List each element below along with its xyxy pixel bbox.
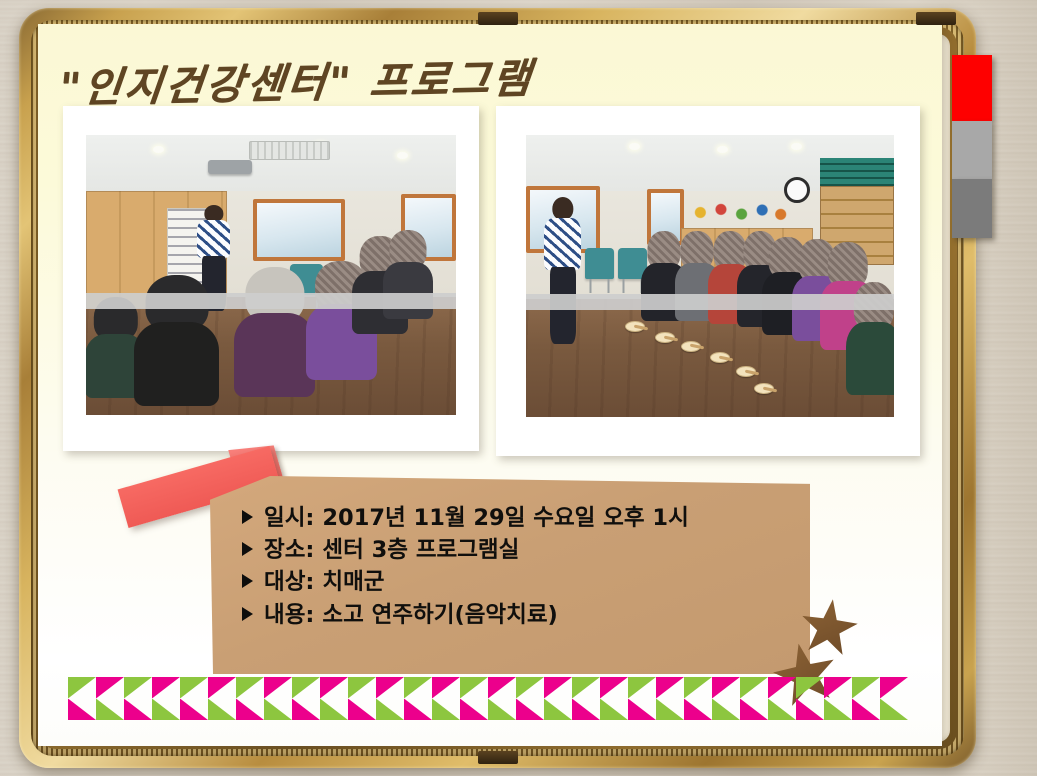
triangle-pair [544,677,572,720]
triangle-pair [712,677,740,720]
triangle-icon [768,699,796,721]
triangle-pair [208,677,236,720]
info-label: 내용: [264,599,314,631]
triangle-icon [628,677,656,699]
block-red[interactable] [952,55,992,121]
triangle-icon [404,677,432,699]
list-item: 장소: 센터 3층 프로그램실 [242,534,689,566]
triangle-pair [124,677,152,720]
triangle-icon [180,677,208,699]
triangle-pair [152,677,180,720]
frame-clip-top-right [916,12,956,25]
triangle-pair [768,677,796,720]
triangle-icon [68,677,96,699]
triangle-icon [376,677,404,699]
triangle-icon [348,677,376,699]
triangle-icon [208,699,236,721]
triangle-icon [768,677,796,699]
triangle-pair [404,677,432,720]
info-value: 소고 연주하기(음악치료) [322,599,557,631]
triangle-pair [516,677,544,720]
triangle-icon [572,677,600,699]
triangle-pair [628,677,656,720]
triangle-pair [376,677,404,720]
list-item: 내용: 소고 연주하기(음악치료) [242,599,689,631]
triangle-pair [236,677,264,720]
triangle-icon [572,699,600,721]
screen-share-band-right [526,294,894,310]
triangle-icon [600,699,628,721]
triangle-icon [796,677,824,699]
triangle-icon [880,677,908,699]
triangle-pair [684,677,712,720]
triangle-icon [320,699,348,721]
triangle-icon [488,677,516,699]
triangle-icon [544,677,572,699]
photo-image-left [86,135,456,415]
triangle-icon [544,699,572,721]
triangle-icon [852,699,880,721]
info-list: 일시: 2017년 11월 29일 수요일 오후 1시 장소: 센터 3층 프로… [242,502,689,631]
triangle-icon [852,677,880,699]
list-item: 일시: 2017년 11월 29일 수요일 오후 1시 [242,502,689,534]
bullet-triangle-icon [242,574,253,588]
triangle-icon [740,677,768,699]
triangle-icon [656,699,684,721]
slide-canvas: "인지건강센터" 프로그램 [38,24,942,746]
triangle-pair [740,677,768,720]
info-label: 대상: [264,566,314,598]
page-title: "인지건강센터" 프로그램 [56,44,536,114]
triangle-icon [516,699,544,721]
photo-card-right [496,106,920,456]
triangle-icon [824,677,852,699]
triangle-icon [656,677,684,699]
triangle-pair [880,677,908,720]
triangle-icon [180,699,208,721]
bullet-triangle-icon [242,542,253,556]
triangle-pair [600,677,628,720]
photo-image-right [526,135,894,417]
info-box: 일시: 2017년 11월 29일 수요일 오후 1시 장소: 센터 3층 프로… [210,476,810,674]
info-value: 2017년 11월 29일 수요일 오후 1시 [322,502,688,534]
triangle-icon [236,677,264,699]
info-label: 장소: [264,534,314,566]
triangle-pair [320,677,348,720]
triangle-icon [376,699,404,721]
triangle-icon [740,699,768,721]
triangle-pair [68,677,96,720]
triangle-pair [656,677,684,720]
triangle-icon [292,699,320,721]
triangle-pair [852,677,880,720]
triangle-icon [880,699,908,721]
screen-share-band-left [86,293,456,308]
triangle-border-decoration [68,677,908,720]
triangle-pair [488,677,516,720]
triangle-icon [96,677,124,699]
triangle-pair [432,677,460,720]
block-light-gray[interactable] [952,121,992,179]
triangle-icon [488,699,516,721]
triangle-icon [712,677,740,699]
triangle-icon [796,699,824,721]
triangle-icon [320,677,348,699]
triangle-pair [348,677,376,720]
triangle-pair [96,677,124,720]
frame-clip-bottom [478,751,518,764]
bullet-triangle-icon [242,510,253,524]
triangle-icon [208,677,236,699]
desk-background: "인지건강센터" 프로그램 [0,0,1037,776]
triangle-icon [68,699,96,721]
triangle-icon [516,677,544,699]
triangle-icon [124,677,152,699]
triangle-pair [180,677,208,720]
triangle-icon [684,699,712,721]
side-blocks[interactable] [952,55,992,238]
triangle-icon [404,699,432,721]
triangle-icon [432,677,460,699]
triangle-pair [264,677,292,720]
triangle-pair [460,677,488,720]
triangle-icon [460,699,488,721]
bullet-triangle-icon [242,607,253,621]
frame-clip-top [478,12,518,25]
triangle-icon [96,699,124,721]
triangle-icon [152,699,180,721]
triangle-icon [264,677,292,699]
triangle-pair [796,677,824,720]
triangle-icon [152,677,180,699]
triangle-icon [124,699,152,721]
triangle-icon [292,677,320,699]
info-label: 일시: [264,502,314,534]
list-item: 대상: 치매군 [242,566,689,598]
triangle-icon [348,699,376,721]
triangle-icon [264,699,292,721]
triangle-icon [824,699,852,721]
triangle-icon [460,677,488,699]
info-value: 센터 3층 프로그램실 [322,534,519,566]
block-dark-gray[interactable] [952,179,992,238]
photo-card-left [63,106,479,451]
triangle-icon [600,677,628,699]
info-value: 치매군 [322,566,384,598]
triangle-pair [824,677,852,720]
triangle-icon [684,677,712,699]
triangle-icon [628,699,656,721]
triangle-pair [572,677,600,720]
triangle-pair [292,677,320,720]
triangle-icon [236,699,264,721]
triangle-icon [712,699,740,721]
triangle-icon [432,699,460,721]
